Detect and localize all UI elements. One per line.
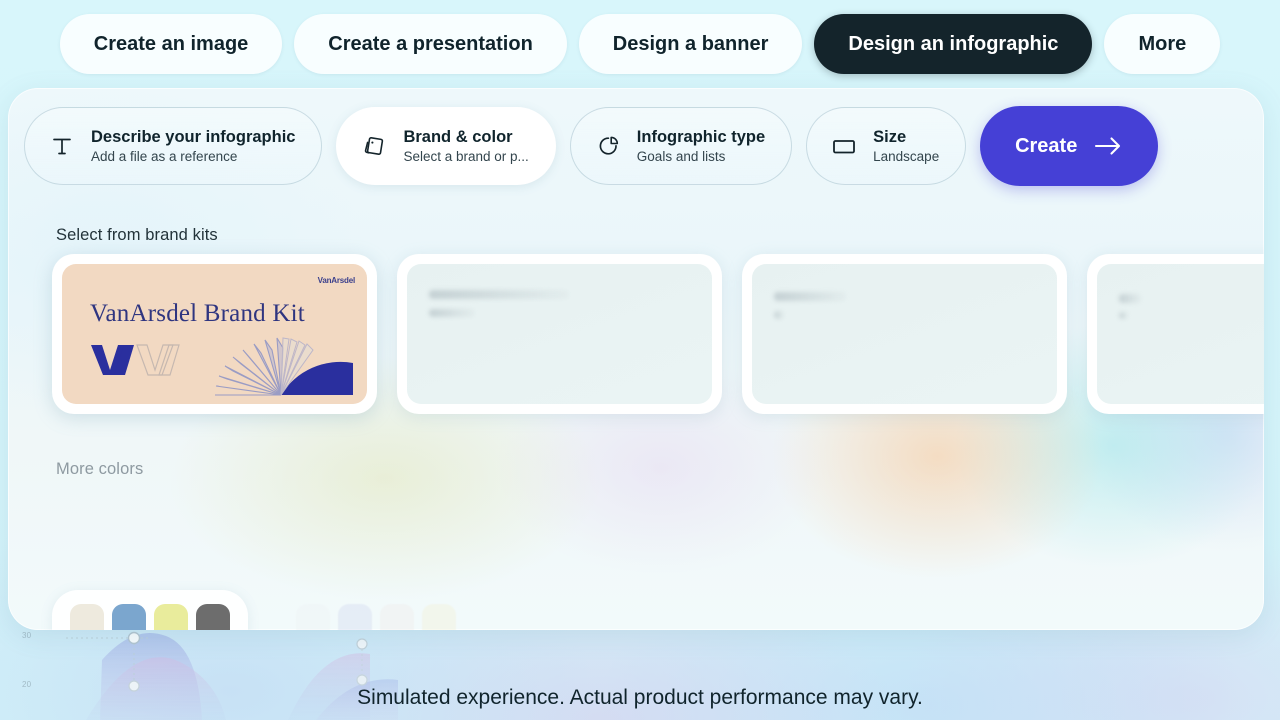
describe-infographic-chip[interactable]: Describe your infographic Add a file as … — [24, 107, 322, 185]
brand-kit-placeholder-art — [1097, 264, 1264, 404]
creation-panel: Describe your infographic Add a file as … — [8, 88, 1264, 630]
size-title: Size — [873, 128, 939, 147]
color-swatch[interactable] — [70, 604, 104, 630]
brand-and-color-chip[interactable]: Brand & color Select a brand or p... — [336, 107, 555, 185]
brand-swatch-icon — [359, 131, 389, 161]
skeleton-line — [774, 311, 784, 319]
tab-create-an-image[interactable]: Create an image — [60, 14, 283, 74]
prompt-bar: Describe your infographic Add a file as … — [24, 106, 1158, 186]
size-subtitle: Landscape — [873, 149, 939, 165]
color-swatch[interactable] — [422, 604, 456, 630]
infographic-type-chip[interactable]: Infographic type Goals and lists — [570, 107, 792, 185]
color-palettes-row — [52, 590, 474, 630]
simulation-disclaimer: Simulated experience. Actual product per… — [0, 686, 1280, 710]
skeleton-line — [774, 292, 846, 301]
pie-chart-icon — [593, 131, 623, 161]
text-format-icon — [47, 131, 77, 161]
describe-infographic-title: Describe your infographic — [91, 128, 295, 147]
skeleton-line — [429, 290, 569, 299]
color-swatch[interactable] — [154, 604, 188, 630]
tab-design-a-banner[interactable]: Design a banner — [579, 14, 803, 74]
skeleton-line — [1119, 312, 1128, 319]
brand-kit-placeholder-art — [752, 264, 1057, 404]
color-palette-2[interactable] — [278, 590, 474, 630]
brand-kit-card-placeholder-2[interactable] — [742, 254, 1067, 414]
brand-kits-row: VanArsdel VanArsdel Brand Kit — [52, 254, 1264, 414]
describe-infographic-subtitle: Add a file as a reference — [91, 149, 295, 165]
create-button[interactable]: Create — [980, 106, 1158, 186]
infographic-type-subtitle: Goals and lists — [637, 149, 765, 165]
brand-kit-placeholder-art — [407, 264, 712, 404]
skeleton-line — [1119, 294, 1141, 303]
infographic-type-title: Infographic type — [637, 128, 765, 147]
tab-create-a-presentation[interactable]: Create a presentation — [294, 14, 567, 74]
brand-kit-artwork: VanArsdel VanArsdel Brand Kit — [62, 264, 367, 404]
vanarsdel-va-logomark — [89, 343, 184, 382]
brand-kit-card-placeholder-1[interactable] — [397, 254, 722, 414]
color-palette-1[interactable] — [52, 590, 248, 630]
tab-design-an-infographic[interactable]: Design an infographic — [814, 14, 1092, 74]
arrow-right-icon — [1093, 135, 1123, 157]
color-swatch[interactable] — [338, 604, 372, 630]
brand-kit-card-vanarsdel[interactable]: VanArsdel VanArsdel Brand Kit — [52, 254, 377, 414]
size-chip[interactable]: Size Landscape — [806, 107, 966, 185]
brand-kit-fan-graphic — [203, 323, 367, 404]
brand-kits-section-label: Select from brand kits — [56, 226, 218, 245]
tab-more[interactable]: More — [1104, 14, 1220, 74]
color-swatch[interactable] — [112, 604, 146, 630]
mode-tab-strip: Create an image Create a presentation De… — [0, 12, 1280, 76]
brand-kit-card-placeholder-3[interactable] — [1087, 254, 1264, 414]
create-button-label: Create — [1015, 135, 1077, 158]
skeleton-line — [429, 309, 475, 317]
rectangle-landscape-icon — [829, 131, 859, 161]
brand-and-color-subtitle: Select a brand or p... — [403, 149, 528, 165]
chart-y-label-30: 30 — [22, 631, 31, 640]
brand-and-color-title: Brand & color — [403, 128, 528, 147]
vanarsdel-corner-logo: VanArsdel — [318, 276, 355, 285]
color-swatch[interactable] — [196, 604, 230, 630]
more-colors-section-label: More colors — [56, 460, 143, 479]
color-swatch[interactable] — [380, 604, 414, 630]
color-swatch[interactable] — [296, 604, 330, 630]
